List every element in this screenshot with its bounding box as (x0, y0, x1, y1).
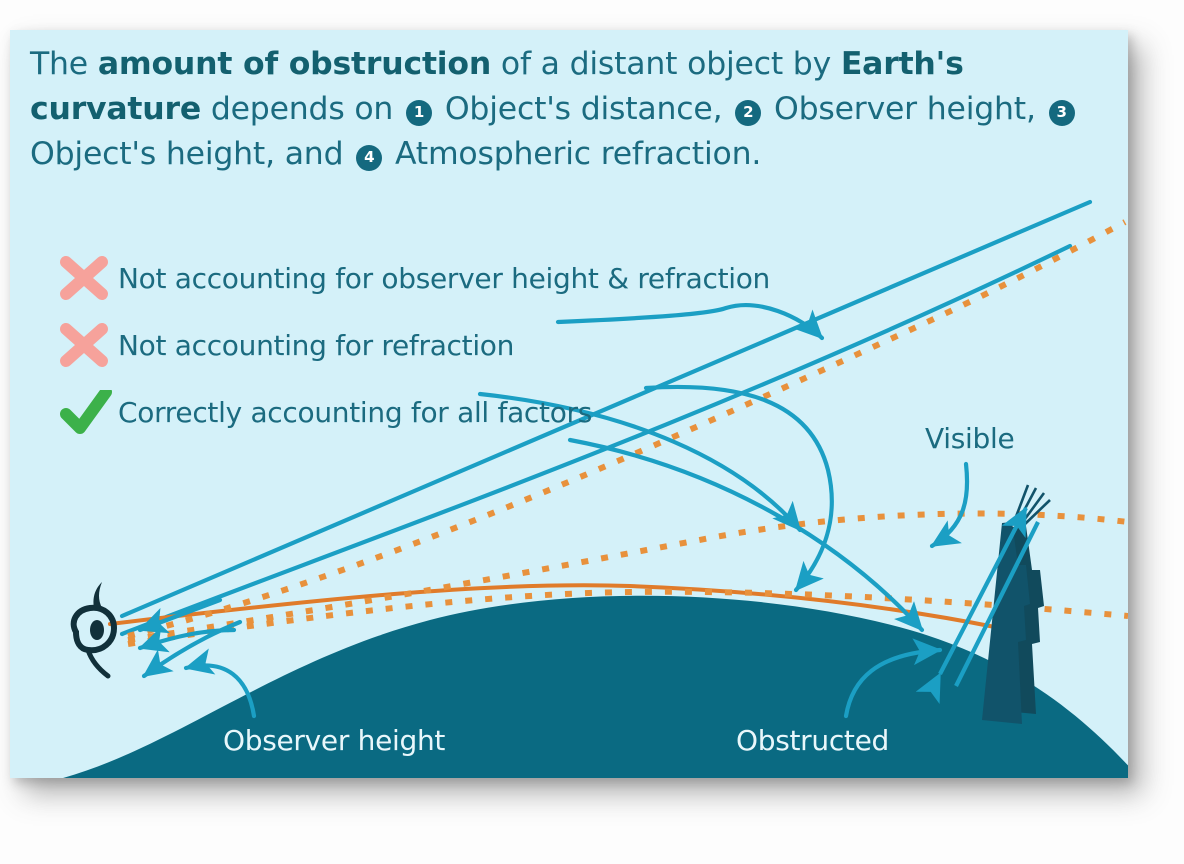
earth-dome (10, 596, 1128, 778)
badge-4: 4 (356, 145, 382, 171)
headline-part-4: Object's distance, (435, 91, 732, 127)
headline-part-1: The (30, 46, 98, 82)
label-visible: Visible (925, 422, 1014, 455)
legend-item-correct: Correctly accounting for all factors (56, 390, 592, 434)
label-observer-height: Observer height (223, 724, 445, 757)
infographic-canvas: The amount of obstruction of a distant o… (0, 0, 1184, 864)
headline-part-5: Observer height, (764, 91, 1045, 127)
check-mark-icon (56, 390, 118, 434)
infographic-card: The amount of obstruction of a distant o… (10, 30, 1128, 778)
leader-visible (932, 464, 967, 546)
x-mark-icon (56, 323, 118, 367)
headline-bold-1: amount of obstruction (98, 46, 491, 82)
leader-correct-factors (646, 387, 832, 590)
page-title: The amount of obstruction of a distant o… (30, 42, 1108, 177)
eye-observer-icon (74, 582, 114, 676)
headline-part-7: Atmospheric refraction. (385, 136, 761, 172)
legend-item-label: Not accounting for refraction (118, 329, 514, 362)
badge-2: 2 (735, 100, 761, 126)
label-obstructed: Obstructed (736, 724, 889, 757)
badge-3: 3 (1049, 100, 1075, 126)
legend-item-label: Not accounting for observer height & ref… (118, 262, 770, 295)
legend-item-label: Correctly accounting for all factors (118, 396, 592, 429)
legend-item-no-observer-no-refraction: Not accounting for observer height & ref… (56, 256, 770, 300)
x-mark-icon (56, 256, 118, 300)
headline-part-6: Object's height, and (30, 136, 353, 172)
headline-part-2: of a distant object by (491, 46, 841, 82)
skyscraper-icon (982, 485, 1050, 724)
headline-part-3: depends on (201, 91, 403, 127)
legend-item-no-refraction: Not accounting for refraction (56, 323, 514, 367)
badge-1: 1 (406, 100, 432, 126)
